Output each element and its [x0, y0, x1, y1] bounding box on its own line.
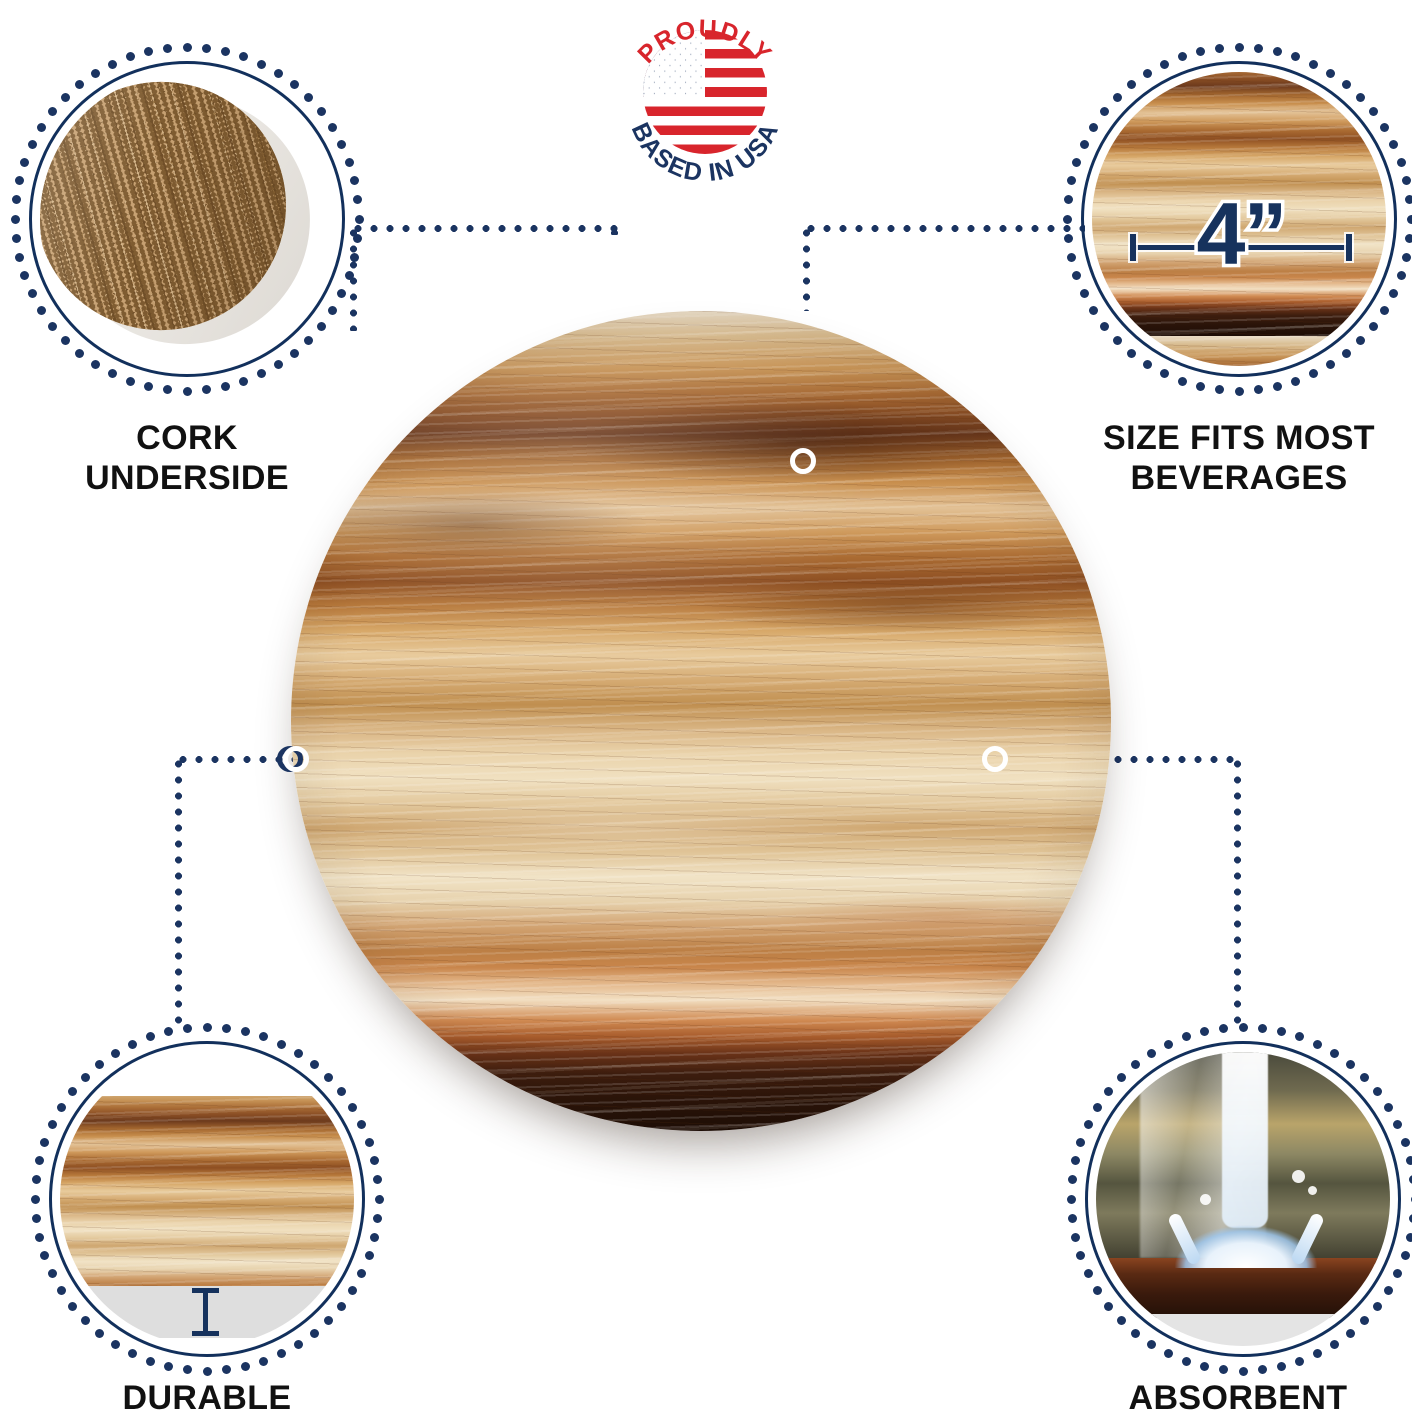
ring-dot [239, 52, 248, 61]
ring-dot [1071, 1233, 1080, 1242]
ring-dot [222, 1024, 231, 1033]
ring-dot [357, 1120, 366, 1129]
ring-dot [355, 215, 364, 224]
ring-dot [1258, 1024, 1267, 1033]
ring-dot [373, 1214, 382, 1223]
ring-dot [183, 43, 192, 52]
connector-right-vertical [1234, 756, 1241, 1026]
feature-absorbent [1068, 1024, 1412, 1374]
ring-dot [32, 1214, 41, 1223]
marker-left-inner [283, 746, 309, 772]
ring-dot [1235, 43, 1244, 52]
ring-dot [144, 47, 153, 56]
ring-dot [1063, 215, 1072, 224]
ring-dot [32, 1175, 41, 1184]
ring-dot [1407, 215, 1412, 224]
ring-dot [1196, 382, 1205, 391]
coaster-width-closeup-photo: 4” [1092, 72, 1386, 366]
water-droplet [1292, 1170, 1305, 1183]
thickness-dimension-bar [203, 1288, 208, 1336]
connector-right-horizontal [1110, 756, 1238, 763]
ring-dot [164, 1362, 173, 1371]
ring-dot [350, 176, 359, 185]
cork-shading [40, 72, 315, 360]
ring-dot [1405, 234, 1412, 243]
width-dimension-cap-right [1346, 234, 1352, 261]
label-absorbent-line-1: ABSORBENT [1078, 1378, 1398, 1418]
ring-dot [1215, 44, 1224, 53]
ring-dot [28, 289, 37, 298]
label-size-fits-most: SIZE FITS MOST BEVERAGES [1072, 418, 1406, 498]
ring-dot [370, 1233, 379, 1242]
ring-dot [1239, 1367, 1248, 1376]
ring-dot [40, 1251, 49, 1260]
ring-dot [1072, 158, 1081, 167]
ring-dot [1402, 176, 1411, 185]
connector-left-vertical [175, 756, 182, 1026]
ring-dot [1389, 289, 1398, 298]
coaster-edge-view [60, 1096, 354, 1286]
ring-dot [1071, 1156, 1080, 1165]
connector-top-right-vertical [803, 225, 810, 311]
svg-text:BASED IN USA: BASED IN USA [626, 118, 785, 187]
ring-dot [1200, 1027, 1209, 1036]
ring-dot [1401, 1138, 1410, 1147]
ring-dot [1239, 1023, 1248, 1032]
product-gloss-highlight [291, 311, 1111, 1131]
ring-dot [126, 377, 135, 386]
ring-dot [1160, 60, 1169, 69]
ring-dot [146, 1032, 155, 1041]
marker-top-right [790, 448, 816, 474]
ring-dot [1164, 1040, 1173, 1049]
stone-streaks-edge [60, 1096, 354, 1286]
ring-dot [1393, 1269, 1402, 1278]
cork-disc [40, 72, 315, 360]
infographic-canvas: PROUDLY BASED IN USA [0, 0, 1412, 1422]
ring-dot [1295, 1357, 1304, 1366]
ring-dot [1406, 1156, 1412, 1165]
ring-dot [353, 195, 362, 204]
water-droplet [1308, 1186, 1317, 1195]
ring-dot [1313, 1349, 1322, 1358]
thickness-dimension-value: 0.4” [160, 1340, 252, 1346]
ring-dot [164, 1027, 173, 1036]
water-splash-on-coaster-photo [1096, 1052, 1390, 1346]
ring-dot [1402, 253, 1411, 262]
label-durable-line-1: DURABLE [57, 1378, 357, 1418]
thickness-dimension [192, 1288, 218, 1336]
ring-dot [365, 1251, 374, 1260]
width-dimension: 4” [1130, 234, 1352, 260]
ring-dot [1178, 52, 1187, 61]
connector-top-left-horizontal [350, 225, 618, 232]
feature-size-fits-most: 4” [1064, 44, 1412, 394]
thickness-dimension-cap-bottom [192, 1331, 219, 1336]
ring-dot [1084, 1269, 1093, 1278]
ring-dot [203, 1023, 212, 1032]
ring-dot [221, 47, 230, 56]
ring-dot [1076, 1138, 1085, 1147]
ring-dot [1219, 1024, 1228, 1033]
ring-dot [144, 382, 153, 391]
ring-dot [1196, 47, 1205, 56]
ring-dot [1254, 385, 1263, 394]
badge-top-text: PROUDLY [632, 15, 777, 69]
ring-dot [1235, 387, 1244, 396]
ring-dot [1067, 176, 1076, 185]
ring-dot [28, 140, 37, 149]
thickness-dimension-cap-top [192, 1288, 219, 1293]
ring-dot [1273, 47, 1282, 56]
ring-dot [12, 195, 21, 204]
ring-dot [337, 289, 346, 298]
usa-badge: PROUDLY BASED IN USA [612, 4, 798, 204]
ring-dot [1309, 369, 1318, 378]
ring-dot [11, 215, 20, 224]
ring-dot [365, 1138, 374, 1147]
ring-dot [1291, 52, 1300, 61]
connector-top-left-drop [611, 225, 618, 235]
ring-dot [1164, 1349, 1173, 1358]
ring-dot [1080, 140, 1089, 149]
label-cork-underside: CORK UNDERSIDE [37, 418, 337, 498]
ring-dot [241, 1027, 250, 1036]
ring-dot [1313, 1040, 1322, 1049]
ring-dot [1076, 1251, 1085, 1260]
ring-dot [1401, 1251, 1410, 1260]
svg-text:PROUDLY: PROUDLY [632, 15, 777, 69]
ring-dot [1200, 1362, 1209, 1371]
feature-durable: 0.4” [32, 1024, 382, 1374]
ring-dot [277, 1040, 286, 1049]
water-splash [1158, 1192, 1334, 1268]
ring-dot [1072, 271, 1081, 280]
ring-dot [373, 1175, 382, 1184]
ring-dot [163, 44, 172, 53]
label-absorbent: ABSORBENT [1078, 1378, 1398, 1418]
ring-dot [35, 1156, 44, 1165]
ring-dot [1405, 195, 1412, 204]
ring-dot [202, 385, 211, 394]
ring-dot [126, 52, 135, 61]
ring-dot [337, 140, 346, 149]
ring-dot [1291, 377, 1300, 386]
main-product-coaster [291, 311, 1111, 1131]
ring-dot [350, 253, 359, 262]
ring-dot [203, 1367, 212, 1376]
ring-dot [221, 382, 230, 391]
ring-dot [1219, 1365, 1228, 1374]
ring-dot [239, 377, 248, 386]
ring-dot [1064, 195, 1073, 204]
ring-dot [345, 158, 354, 167]
ring-dot [1393, 1120, 1402, 1129]
ring-dot [1084, 1120, 1093, 1129]
ring-dot [1397, 271, 1406, 280]
connector-top-right-horizontal [803, 225, 1085, 232]
ring-dot [1215, 385, 1224, 394]
badge-bottom-text: BASED IN USA [626, 118, 785, 187]
ring-dot [1254, 44, 1263, 53]
ring-dot [1067, 253, 1076, 262]
label-durable: DURABLE [57, 1378, 357, 1418]
ring-dot [357, 1269, 366, 1278]
ring-dot [241, 1362, 250, 1371]
ring-dot [15, 253, 24, 262]
ring-dot [1178, 377, 1187, 386]
badge-curved-text: PROUDLY BASED IN USA [612, 4, 798, 204]
ring-dot [146, 1357, 155, 1366]
ring-dot [40, 1138, 49, 1147]
ring-dot [1277, 1027, 1286, 1036]
ring-dot [1080, 289, 1089, 298]
width-dimension-cap-left [1130, 234, 1136, 261]
ring-dot [108, 369, 117, 378]
ring-dot [1273, 382, 1282, 391]
ring-dot [257, 369, 266, 378]
ring-dot [183, 387, 192, 396]
ring-dot [1068, 1175, 1077, 1184]
label-cork-line-1: CORK [37, 418, 337, 458]
ring-dot [128, 1349, 137, 1358]
ring-dot [1309, 60, 1318, 69]
ring-dot [375, 1195, 384, 1204]
ring-dot [222, 1365, 231, 1374]
ring-dot [20, 158, 29, 167]
ring-dot [202, 44, 211, 53]
ring-dot [259, 1357, 268, 1366]
coaster-edge-thickness-photo: 0.4” [60, 1052, 354, 1346]
width-dimension-value: 4” [1197, 190, 1286, 278]
ring-dot [1295, 1032, 1304, 1041]
ring-dot [1397, 158, 1406, 167]
ring-dot [1277, 1362, 1286, 1371]
ring-dot [1182, 1357, 1191, 1366]
label-cork-line-2: UNDERSIDE [37, 458, 337, 498]
ring-dot [183, 1365, 192, 1374]
label-size-line-2: BEVERAGES [1072, 458, 1406, 498]
ring-dot [128, 1040, 137, 1049]
ring-dot [31, 1195, 40, 1204]
ring-dot [1067, 1195, 1076, 1204]
water-droplet [1200, 1194, 1211, 1205]
ring-dot [1064, 234, 1073, 243]
ring-dot [20, 271, 29, 280]
cork-backed-coaster-photo [40, 72, 334, 366]
ring-dot [12, 234, 21, 243]
feature-cork-underside [12, 44, 362, 394]
marker-right [982, 746, 1008, 772]
ring-dot [1182, 1032, 1191, 1041]
ring-dot [277, 1349, 286, 1358]
coaster-base-band-absorbent [1096, 1314, 1390, 1346]
label-size-line-1: SIZE FITS MOST [1072, 418, 1406, 458]
ring-dot [370, 1156, 379, 1165]
ring-dot [163, 385, 172, 394]
ring-dot [1258, 1365, 1267, 1374]
ring-dot [345, 271, 354, 280]
ring-dot [1389, 140, 1398, 149]
ring-dot [1160, 369, 1169, 378]
ring-dot [1068, 1214, 1077, 1223]
ring-dot [48, 1269, 57, 1278]
ring-dot [257, 60, 266, 69]
ring-dot [48, 1120, 57, 1129]
ring-dot [15, 176, 24, 185]
ring-dot [1406, 1233, 1412, 1242]
connector-left-horizontal [175, 756, 293, 763]
ring-dot [259, 1032, 268, 1041]
ring-dot [108, 60, 117, 69]
ring-dot [35, 1233, 44, 1242]
ring-dot [353, 234, 362, 243]
ring-dot [183, 1024, 192, 1033]
